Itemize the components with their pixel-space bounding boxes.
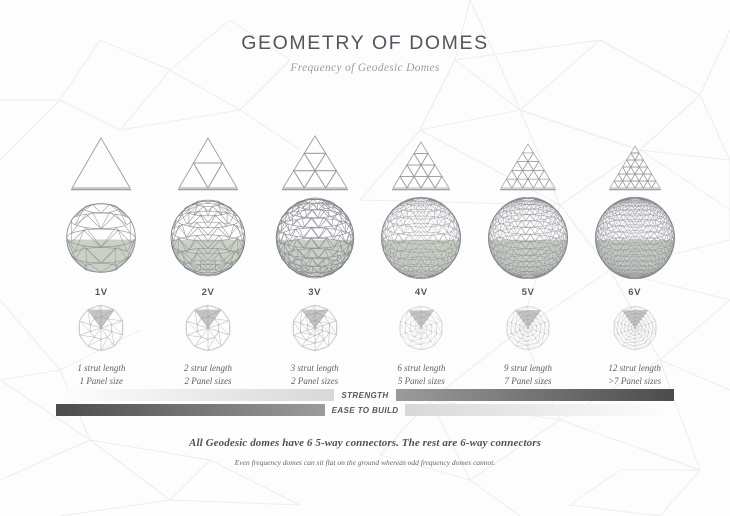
dome-plan-icon: [181, 301, 235, 355]
ease-bar-right: [405, 404, 674, 416]
dome-topview-4v: [395, 300, 447, 356]
sphere-diagram-6v: [590, 192, 680, 284]
strength-bar-label: STRENGTH: [334, 391, 395, 400]
specs-6v: 12 strut length >7 Panel sizes: [608, 362, 661, 388]
strut-text-3v: 3 strut length: [291, 362, 339, 375]
dome-plan-icon: [395, 302, 447, 354]
geodesic-sphere-icon: [590, 193, 680, 283]
dome-plan-icon: [609, 302, 661, 354]
panel-text-1v: 1 Panel size: [77, 375, 125, 388]
frequency-label-4v: 4V: [415, 284, 428, 300]
triangle-diagram-5v: [499, 128, 557, 190]
frequency-label-6v: 6V: [628, 284, 641, 300]
frequency-label-3v: 3V: [308, 284, 321, 300]
sphere-diagram-3v: [271, 192, 359, 284]
column-4v: 4V 6 strut length 5 Panel sizes: [368, 128, 475, 390]
triangle-diagram-2v: [177, 128, 239, 190]
footer-primary-note: All Geodesic domes have 6 5-way connecto…: [0, 437, 730, 449]
dome-topview-1v: [74, 300, 128, 356]
footer-secondary-note: Even frequency domes can sit flat on the…: [0, 458, 730, 467]
geodesic-sphere-icon: [166, 196, 250, 280]
dome-plan-icon: [502, 302, 554, 354]
page-header: GEOMETRY OF DOMES Frequency of Geodesic …: [0, 32, 730, 74]
strength-bar-right: [396, 389, 674, 401]
triangle-diagram-3v: [281, 128, 349, 190]
column-5v: 5V 9 strut length 7 Panel sizes: [475, 128, 582, 390]
geodesic-sphere-icon: [62, 199, 140, 277]
ease-bar-left: [56, 404, 325, 416]
dome-topview-5v: [502, 300, 554, 356]
strut-text-4v: 6 strut length: [397, 362, 445, 375]
specs-1v: 1 strut length 1 Panel size: [77, 362, 125, 388]
subdivided-triangle-icon: [281, 134, 349, 190]
specs-5v: 9 strut length 7 Panel sizes: [504, 362, 552, 388]
page-subtitle: Frequency of Geodesic Domes: [0, 62, 730, 74]
frequency-columns: 1V 1 strut length 1 Panel size: [48, 128, 688, 390]
dome-topview-2v: [181, 300, 235, 356]
panel-text-4v: 5 Panel sizes: [397, 375, 445, 388]
sphere-diagram-4v: [376, 192, 466, 284]
page-title: GEOMETRY OF DOMES: [0, 32, 730, 55]
column-1v: 1V 1 strut length 1 Panel size: [48, 128, 155, 390]
infographic-page: GEOMETRY OF DOMES Frequency of Geodesic …: [0, 0, 730, 516]
geodesic-sphere-icon: [376, 193, 466, 283]
dome-plan-icon: [74, 301, 128, 355]
sphere-diagram-2v: [166, 192, 250, 284]
sphere-diagram-1v: [62, 192, 140, 284]
triangle-diagram-6v: [608, 128, 662, 190]
panel-text-5v: 7 Panel sizes: [504, 375, 552, 388]
strut-text-6v: 12 strut length: [608, 362, 661, 375]
panel-text-6v: >7 Panel sizes: [608, 375, 661, 388]
strut-text-2v: 2 strut length: [184, 362, 232, 375]
geodesic-sphere-icon: [271, 194, 359, 282]
strength-bar-row: STRENGTH: [56, 389, 674, 401]
column-3v: 3V 3 strut length 2 Panel sizes: [261, 128, 368, 390]
panel-text-2v: 2 Panel sizes: [184, 375, 232, 388]
comparison-bars: STRENGTH EASE TO BUILD: [56, 389, 674, 419]
ease-bar-label: EASE TO BUILD: [325, 406, 406, 415]
dome-plan-icon: [288, 301, 342, 355]
sphere-diagram-5v: [483, 192, 573, 284]
specs-2v: 2 strut length 2 Panel sizes: [184, 362, 232, 388]
frequency-label-1v: 1V: [95, 284, 108, 300]
strut-text-1v: 1 strut length: [77, 362, 125, 375]
dome-topview-3v: [288, 300, 342, 356]
subdivided-triangle-icon: [391, 140, 451, 190]
subdivided-triangle-icon: [177, 136, 239, 190]
frequency-label-5v: 5V: [522, 284, 535, 300]
subdivided-triangle-icon: [70, 136, 132, 190]
subdivided-triangle-icon: [608, 144, 662, 190]
dome-topview-6v: [609, 300, 661, 356]
frequency-label-2v: 2V: [202, 284, 215, 300]
page-footer: All Geodesic domes have 6 5-way connecto…: [0, 437, 730, 467]
geodesic-sphere-icon: [483, 193, 573, 283]
column-6v: 6V 12 strut length >7 Panel sizes: [581, 128, 688, 390]
subdivided-triangle-icon: [499, 142, 557, 190]
triangle-diagram-4v: [391, 128, 451, 190]
column-2v: 2V 2 strut length 2 Panel sizes: [155, 128, 262, 390]
triangle-diagram-1v: [70, 128, 132, 190]
specs-3v: 3 strut length 2 Panel sizes: [291, 362, 339, 388]
ease-bar-row: EASE TO BUILD: [56, 404, 674, 416]
strut-text-5v: 9 strut length: [504, 362, 552, 375]
specs-4v: 6 strut length 5 Panel sizes: [397, 362, 445, 388]
panel-text-3v: 2 Panel sizes: [291, 375, 339, 388]
strength-bar-left: [56, 389, 334, 401]
